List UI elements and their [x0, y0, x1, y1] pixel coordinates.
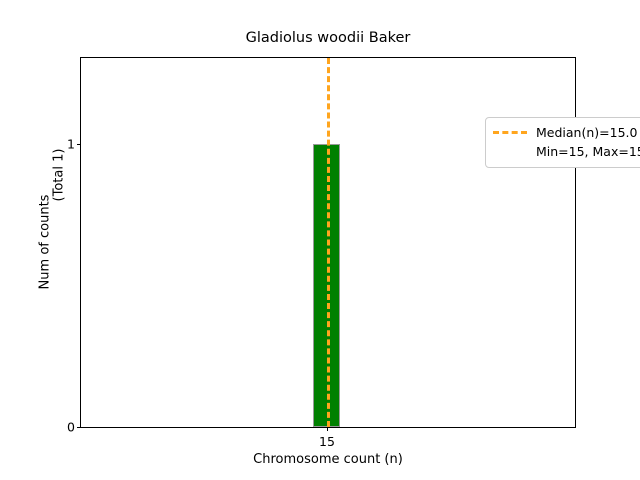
dashed-line-icon	[493, 131, 527, 134]
ytick-label-0: 0	[67, 420, 75, 435]
chart-figure: Gladiolus woodii Baker 0 1 15 Median(n)=…	[0, 0, 640, 480]
ytick-mark-0	[77, 427, 81, 428]
legend-item-minmax: Min=15, Max=15	[493, 142, 640, 161]
plot-area: 0 1 15 Median(n)=15.0 Min=15, Max=15	[80, 57, 576, 428]
xtick-label-15: 15	[319, 434, 335, 449]
legend-label-minmax: Min=15, Max=15	[536, 144, 640, 159]
x-axis-label: Chromosome count (n)	[80, 452, 576, 467]
ytick-mark-1	[77, 144, 81, 145]
page-title: Gladiolus woodii Baker	[80, 30, 576, 46]
y-axis-label-total: (Total 1)	[52, 149, 67, 202]
median-line	[327, 58, 330, 427]
y-axis-label: Num of counts	[38, 195, 53, 290]
ytick-label-1: 1	[67, 136, 75, 151]
xtick-mark-15	[327, 427, 328, 431]
legend-item-median: Median(n)=15.0	[493, 123, 640, 142]
legend-label-median: Median(n)=15.0	[536, 125, 637, 140]
legend: Median(n)=15.0 Min=15, Max=15	[485, 117, 640, 168]
